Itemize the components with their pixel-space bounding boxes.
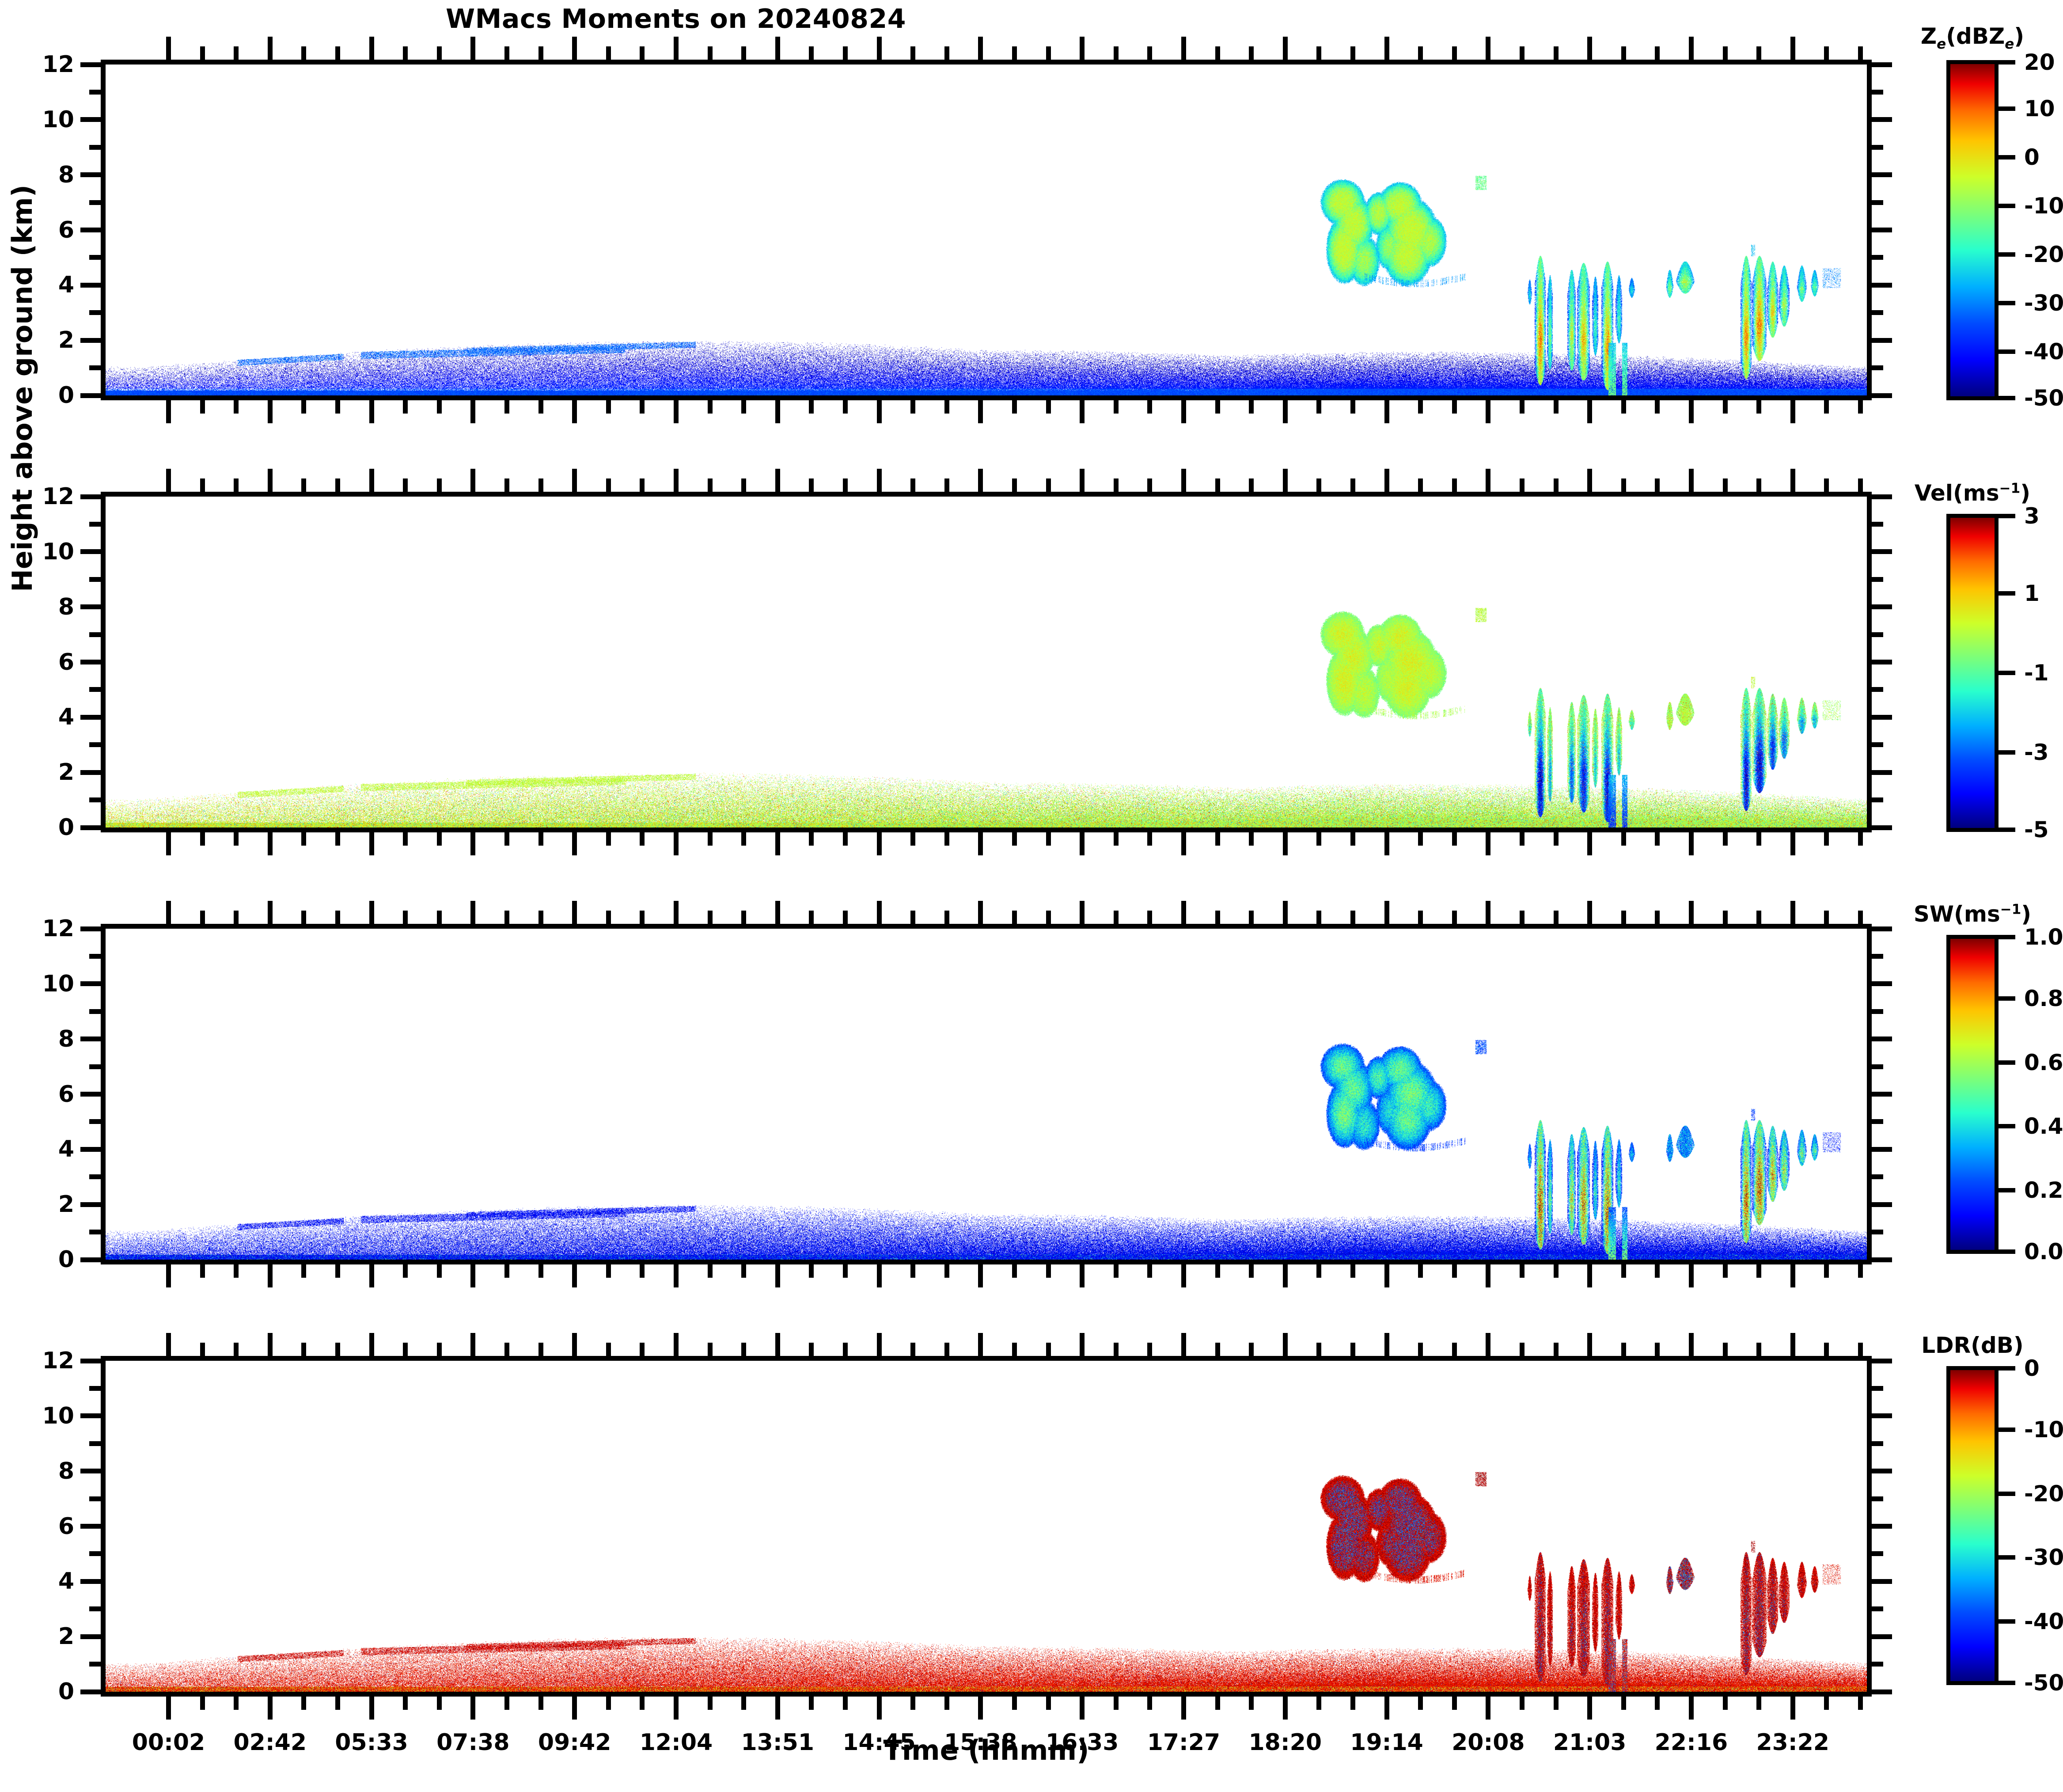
y-tick	[89, 1230, 101, 1234]
x-tick	[1723, 1697, 1728, 1710]
x-tick-top	[640, 478, 645, 492]
y-tick	[89, 1009, 101, 1014]
colorbar-title-ldr: LDR(dB)	[1921, 1333, 2023, 1358]
x-tick	[1858, 1264, 1863, 1278]
y-tick-right	[1872, 1551, 1883, 1556]
colorbar-tick-label: 0	[2024, 144, 2040, 170]
x-tick-top	[1316, 1343, 1321, 1356]
x-tick-top	[1452, 911, 1457, 924]
x-tick-top	[843, 911, 848, 924]
x-tick-top	[1756, 1343, 1761, 1356]
y-tick-right	[1872, 1119, 1883, 1124]
x-tick	[437, 400, 442, 414]
colorbar-tick-label: 0.4	[2024, 1113, 2063, 1139]
y-tick-right	[1872, 981, 1892, 986]
x-tick	[301, 1697, 306, 1710]
x-tick-top	[403, 1343, 408, 1356]
x-tick	[1621, 832, 1626, 846]
y-tick-label: 10	[0, 1403, 74, 1429]
y-tick	[80, 770, 101, 775]
x-tick	[741, 400, 746, 414]
y-tick	[80, 1147, 101, 1152]
x-tick-top	[843, 1343, 848, 1356]
x-tick-top	[674, 901, 679, 924]
x-tick-top	[1655, 478, 1660, 492]
x-tick-label: 00:02	[132, 1729, 205, 1756]
x-tick	[268, 1697, 273, 1720]
x-tick	[539, 400, 543, 414]
colorbar-tick-label: 3	[2024, 503, 2040, 529]
y-tick	[89, 200, 101, 205]
x-tick-top	[1858, 478, 1863, 492]
x-tick	[335, 832, 340, 846]
x-tick	[1316, 1264, 1321, 1278]
y-tick-right	[1872, 1174, 1883, 1179]
x-tick-top	[268, 1333, 273, 1356]
y-tick-label: 8	[0, 594, 74, 620]
x-tick-top	[1520, 1343, 1524, 1356]
x-tick	[1655, 832, 1660, 846]
x-tick	[1452, 832, 1457, 846]
x-tick	[1046, 832, 1051, 846]
x-tick	[775, 832, 780, 855]
x-tick-top	[674, 1333, 679, 1356]
y-tick-right	[1872, 1009, 1883, 1014]
x-tick	[403, 1264, 408, 1278]
x-tick	[200, 1264, 205, 1278]
x-tick-top	[1080, 1333, 1085, 1356]
x-tick	[1283, 832, 1288, 855]
x-tick	[1249, 832, 1254, 846]
x-tick	[572, 1264, 577, 1287]
y-tick	[80, 1634, 101, 1639]
x-tick-top	[1147, 46, 1152, 60]
y-tick-right	[1872, 228, 1892, 232]
x-tick	[572, 832, 577, 855]
y-tick	[89, 1174, 101, 1179]
y-tick	[89, 1551, 101, 1556]
x-tick	[1486, 1264, 1490, 1287]
y-tick-right	[1872, 62, 1892, 67]
x-tick	[1012, 1697, 1017, 1710]
colorbar-tick-label: 0	[2024, 1355, 2040, 1381]
colorbar-tick-label: -20	[2024, 1481, 2063, 1507]
x-tick	[1756, 1697, 1761, 1710]
colorbar-tick	[1999, 1619, 2015, 1624]
x-tick-top	[1587, 1333, 1592, 1356]
x-tick	[200, 832, 205, 846]
x-tick-top	[234, 1343, 239, 1356]
colorbar-tick	[1999, 106, 2015, 111]
x-tick-top	[843, 46, 848, 60]
x-tick	[1114, 1264, 1119, 1278]
x-tick-top	[1418, 478, 1423, 492]
y-tick-label: 8	[0, 1026, 74, 1052]
plot-area-ldr	[106, 1361, 1867, 1692]
x-tick-top	[1621, 911, 1626, 924]
x-tick	[1283, 1697, 1288, 1720]
x-tick-label: 02:42	[234, 1729, 307, 1756]
x-tick-top	[166, 469, 171, 492]
y-tick	[89, 1662, 101, 1667]
colorbar-tick	[1999, 155, 2015, 159]
x-tick-top	[1520, 911, 1524, 924]
x-tick	[1554, 832, 1559, 846]
x-tick-top	[944, 46, 949, 60]
x-tick	[1249, 400, 1254, 414]
y-tick-right	[1872, 577, 1883, 582]
y-tick-label: 2	[0, 759, 74, 786]
colorbar-tick	[1999, 750, 2015, 755]
x-tick	[1350, 400, 1355, 414]
x-tick	[1147, 1697, 1152, 1710]
colorbar-title-ze: Ze(dBZe)	[1921, 23, 2024, 52]
x-tick	[910, 400, 915, 414]
x-tick-top	[1723, 46, 1728, 60]
x-tick-top	[470, 469, 475, 492]
x-tick-top	[1486, 1333, 1490, 1356]
x-tick	[1689, 400, 1694, 423]
x-tick-top	[809, 46, 814, 60]
x-tick-top	[708, 478, 713, 492]
x-tick-top	[775, 1333, 780, 1356]
x-tick	[470, 832, 475, 855]
x-tick	[1418, 832, 1423, 846]
y-tick	[80, 549, 101, 554]
x-tick-top	[268, 37, 273, 60]
y-tick-right	[1872, 926, 1892, 931]
y-tick	[89, 1606, 101, 1611]
y-tick	[80, 604, 101, 609]
colorbar-tick	[1999, 591, 2015, 596]
y-tick-right	[1872, 632, 1883, 637]
x-tick	[1587, 1697, 1592, 1720]
heatmap-canvas-vel	[106, 497, 1867, 828]
x-tick-label: 23:22	[1756, 1729, 1829, 1756]
x-tick	[234, 1697, 239, 1710]
x-tick-top	[539, 478, 543, 492]
x-tick	[1012, 400, 1017, 414]
y-tick	[89, 742, 101, 747]
x-tick	[809, 832, 814, 846]
x-tick-top	[200, 46, 205, 60]
colorbar-tick-label: 0.2	[2024, 1177, 2063, 1203]
x-tick-top	[1384, 469, 1389, 492]
x-tick-label: 05:33	[335, 1729, 408, 1756]
y-tick-right	[1872, 522, 1883, 527]
y-tick	[80, 494, 101, 499]
x-tick-top	[166, 1333, 171, 1356]
x-tick-top	[944, 478, 949, 492]
y-tick-label: 12	[0, 915, 74, 942]
x-tick-top	[1689, 1333, 1694, 1356]
colorbar-tick-label: 1	[2024, 581, 2040, 606]
colorbar-gradient-ze	[1946, 60, 1999, 400]
colorbar-tick	[1999, 1492, 2015, 1496]
y-tick	[80, 715, 101, 720]
x-tick	[1587, 400, 1592, 423]
y-tick-label: 12	[0, 51, 74, 78]
x-tick	[1080, 1697, 1085, 1720]
colorbar-tick	[1999, 1555, 2015, 1560]
x-tick-top	[640, 911, 645, 924]
x-tick	[1452, 400, 1457, 414]
x-tick-top	[234, 46, 239, 60]
x-tick-top	[369, 37, 374, 60]
panel-sw: 024681012	[101, 924, 1872, 1264]
x-tick-top	[1824, 1343, 1829, 1356]
x-tick-top	[1554, 478, 1559, 492]
y-tick-label: 4	[0, 272, 74, 298]
colorbar-tick	[1999, 828, 2015, 832]
x-tick-top	[1790, 469, 1795, 492]
x-tick	[504, 1697, 509, 1710]
x-tick-top	[775, 469, 780, 492]
x-tick-top	[809, 1343, 814, 1356]
x-tick	[674, 1697, 679, 1720]
x-tick-top	[877, 1333, 882, 1356]
x-tick-top	[674, 37, 679, 60]
x-tick-label: 16:33	[1046, 1729, 1119, 1756]
x-tick-top	[1587, 37, 1592, 60]
x-tick	[944, 1697, 949, 1710]
colorbar-tick	[1999, 935, 2015, 939]
x-tick-top	[1080, 901, 1085, 924]
x-tick-top	[1418, 46, 1423, 60]
x-tick-top	[437, 1343, 442, 1356]
x-tick	[1181, 1264, 1186, 1287]
colorbar-gradient-ldr	[1946, 1366, 1999, 1685]
y-tick-label: 12	[0, 483, 74, 510]
x-tick	[1215, 1264, 1220, 1278]
x-tick	[539, 832, 543, 846]
x-tick-top	[1215, 478, 1220, 492]
x-tick	[234, 400, 239, 414]
colorbar-tick-label: -50	[2024, 1670, 2063, 1696]
x-tick-top	[1824, 911, 1829, 924]
x-tick	[1554, 400, 1559, 414]
y-tick-right	[1872, 954, 1883, 959]
x-tick	[944, 1264, 949, 1278]
y-tick-right	[1872, 200, 1883, 205]
x-tick	[200, 400, 205, 414]
x-tick-top	[1114, 46, 1119, 60]
y-tick-label: 2	[0, 1623, 74, 1650]
y-tick-right	[1872, 1496, 1883, 1501]
y-tick	[89, 797, 101, 802]
x-tick-top	[877, 901, 882, 924]
x-tick-top	[1181, 901, 1186, 924]
y-tick	[80, 1202, 101, 1207]
x-tick-top	[1046, 1343, 1051, 1356]
x-tick-top	[741, 1343, 746, 1356]
x-tick	[1283, 400, 1288, 423]
y-tick-right	[1872, 1413, 1892, 1418]
x-tick	[640, 832, 645, 846]
colorbar-vel: Vel(ms−1)31-1-3-5	[1946, 514, 1999, 832]
y-tick-right	[1872, 1202, 1892, 1207]
y-tick-right	[1872, 145, 1883, 150]
x-tick-top	[1012, 46, 1017, 60]
colorbar-tick	[1999, 252, 2015, 257]
x-tick-top	[640, 46, 645, 60]
colorbar-tick	[1999, 1060, 2015, 1065]
x-tick	[1384, 400, 1389, 423]
x-tick-top	[775, 37, 780, 60]
x-tick	[1689, 1264, 1694, 1287]
x-tick-top	[166, 37, 171, 60]
x-tick-top	[234, 478, 239, 492]
x-tick	[1350, 1264, 1355, 1278]
x-tick	[1046, 400, 1051, 414]
x-tick	[1723, 400, 1728, 414]
x-tick-top	[809, 911, 814, 924]
x-tick	[200, 1697, 205, 1710]
x-tick-label: 18:20	[1248, 1729, 1322, 1756]
x-tick-top	[1316, 478, 1321, 492]
x-tick	[1384, 832, 1389, 855]
y-tick-label: 10	[0, 971, 74, 997]
x-tick	[1080, 832, 1085, 855]
x-tick-top	[1114, 911, 1119, 924]
x-tick	[606, 1697, 611, 1710]
x-tick	[1215, 400, 1220, 414]
x-tick	[1486, 1697, 1490, 1720]
x-tick-top	[1689, 469, 1694, 492]
x-tick	[1520, 832, 1524, 846]
x-tick	[166, 400, 171, 423]
x-tick	[674, 832, 679, 855]
colorbar-tick-label: -40	[2024, 1609, 2063, 1634]
x-tick-top	[1621, 1343, 1626, 1356]
y-tick-label: 12	[0, 1348, 74, 1374]
x-tick	[1790, 400, 1795, 423]
x-tick-top	[606, 46, 611, 60]
x-tick-top	[843, 478, 848, 492]
x-tick-top	[1723, 478, 1728, 492]
x-tick-top	[301, 911, 306, 924]
x-tick-top	[877, 37, 882, 60]
panel-vel: 024681012	[101, 492, 1872, 832]
y-tick-label: 8	[0, 162, 74, 188]
x-tick	[640, 1264, 645, 1278]
y-tick	[80, 1036, 101, 1041]
x-tick	[978, 400, 983, 423]
x-tick-top	[166, 901, 171, 924]
panel-ldr: 02468101200:0202:4205:3307:3809:4212:041…	[101, 1356, 1872, 1697]
y-tick	[80, 1579, 101, 1584]
x-tick	[437, 1264, 442, 1278]
x-tick	[1689, 832, 1694, 855]
x-tick-top	[1756, 46, 1761, 60]
x-tick-top	[1418, 1343, 1423, 1356]
x-tick-top	[708, 1343, 713, 1356]
x-tick	[708, 832, 713, 846]
x-tick	[1215, 1697, 1220, 1710]
x-tick	[369, 832, 374, 855]
x-tick-top	[809, 478, 814, 492]
x-tick	[1215, 832, 1220, 846]
x-tick	[1046, 1697, 1051, 1710]
colorbar-tick	[1999, 1124, 2015, 1128]
x-tick	[166, 832, 171, 855]
x-tick-top	[1080, 469, 1085, 492]
x-tick-top	[1858, 46, 1863, 60]
x-tick	[403, 832, 408, 846]
x-tick-top	[1350, 478, 1355, 492]
x-tick	[1756, 832, 1761, 846]
y-tick	[80, 981, 101, 986]
colorbar-tick-label: 10	[2024, 96, 2055, 121]
x-tick-top	[944, 1343, 949, 1356]
x-tick	[1316, 400, 1321, 414]
y-tick	[89, 1119, 101, 1124]
y-tick	[89, 365, 101, 370]
x-tick-top	[1486, 901, 1490, 924]
x-tick	[1181, 1697, 1186, 1720]
x-tick	[1790, 1697, 1795, 1720]
x-tick	[166, 1264, 171, 1287]
x-tick-top	[1655, 1343, 1660, 1356]
x-tick	[1723, 832, 1728, 846]
x-tick-top	[1723, 1343, 1728, 1356]
x-tick-top	[1452, 46, 1457, 60]
x-tick-top	[1046, 911, 1051, 924]
x-tick	[1452, 1697, 1457, 1710]
x-tick-top	[1147, 1343, 1152, 1356]
x-tick-top	[1249, 46, 1254, 60]
x-tick-top	[910, 46, 915, 60]
x-tick-top	[1114, 478, 1119, 492]
x-tick	[1114, 400, 1119, 414]
x-tick	[1824, 1697, 1829, 1710]
x-tick-top	[1384, 37, 1389, 60]
x-tick	[335, 1264, 340, 1278]
x-tick	[1418, 1264, 1423, 1278]
x-tick-top	[1283, 469, 1288, 492]
colorbar-tick	[1999, 996, 2015, 1001]
x-tick	[1114, 1697, 1119, 1710]
x-tick	[843, 1697, 848, 1710]
y-tick-right	[1872, 283, 1892, 288]
y-tick-right	[1872, 549, 1892, 554]
colorbar-tick-label: -10	[2024, 1417, 2063, 1443]
x-tick-top	[470, 1333, 475, 1356]
x-tick	[301, 1264, 306, 1278]
x-tick-top	[708, 911, 713, 924]
x-tick-top	[572, 901, 577, 924]
x-tick-top	[1824, 46, 1829, 60]
y-tick	[80, 926, 101, 931]
colorbar-gradient-sw	[1946, 935, 1999, 1254]
x-tick	[775, 1264, 780, 1287]
x-tick-top	[910, 1343, 915, 1356]
x-tick	[1723, 1264, 1728, 1278]
y-tick	[89, 145, 101, 150]
x-tick	[809, 1697, 814, 1710]
y-tick	[80, 1092, 101, 1097]
y-tick-right	[1872, 172, 1892, 177]
x-tick-top	[1012, 1343, 1017, 1356]
y-tick	[80, 1469, 101, 1473]
x-tick-top	[1723, 911, 1728, 924]
x-tick-top	[1283, 1333, 1288, 1356]
x-tick	[910, 832, 915, 846]
x-tick-top	[1215, 911, 1220, 924]
x-tick-top	[1147, 478, 1152, 492]
x-tick	[877, 832, 882, 855]
x-tick	[1418, 400, 1423, 414]
